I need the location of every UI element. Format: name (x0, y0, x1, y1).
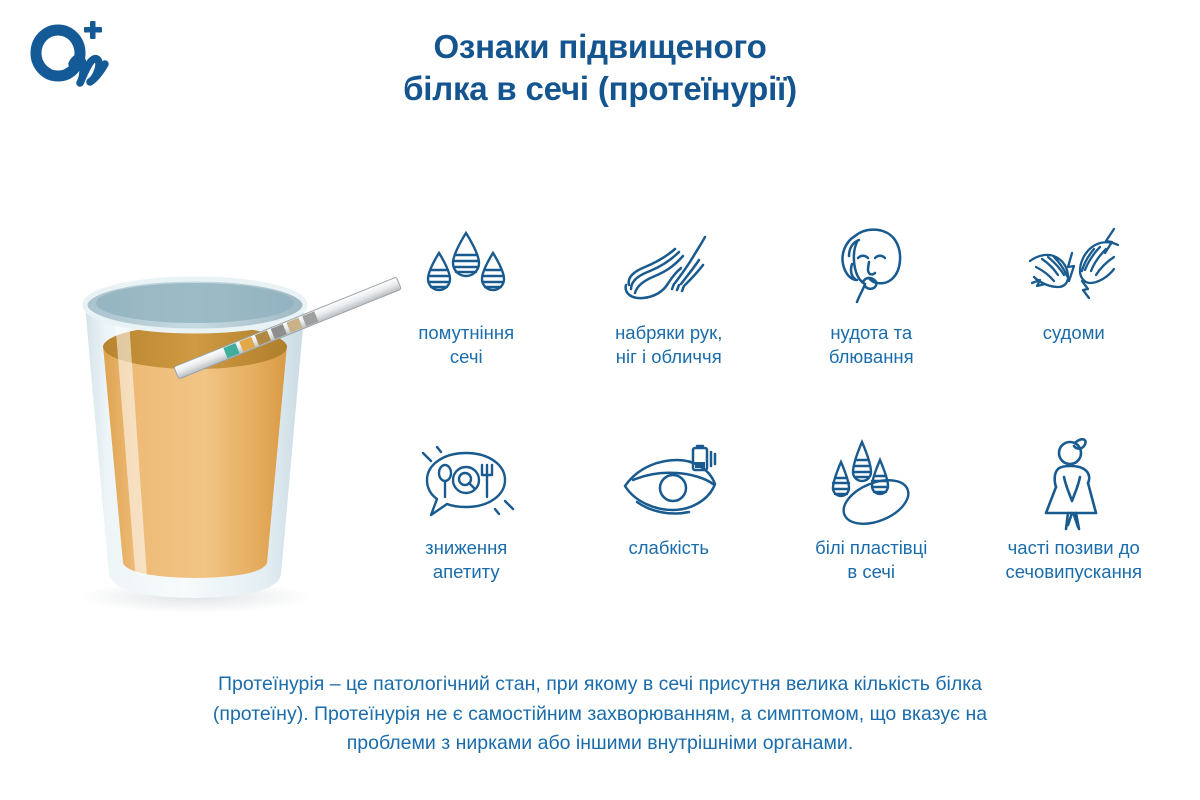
symptom-cell-nausea[interactable]: нудота та блювання (770, 215, 973, 430)
symptom-label-line-2: в сечі (815, 560, 927, 584)
urine-droplets-icon (420, 219, 512, 315)
woman-urgency-icon (1032, 434, 1116, 530)
symptom-caption: слабкість (629, 536, 710, 560)
swollen-foot-icon (617, 219, 721, 315)
symptom-label-line-2: блювання (829, 345, 914, 369)
symptom-label-line-2: апетиту (425, 560, 507, 584)
symptom-cell-cramps[interactable]: судоми (973, 215, 1176, 430)
symptom-label-line-2: ніг і обличчя (615, 345, 722, 369)
symptom-cell-appetite[interactable]: зниження апетиту (365, 430, 568, 645)
symptom-cell-cloudy-urine[interactable]: помутніння сечі (365, 215, 568, 430)
symptom-caption: нудота та блювання (829, 321, 914, 370)
symptom-cell-swelling[interactable]: набряки рук, ніг і обличчя (568, 215, 771, 430)
footer-description: Протеїнурія – це патологічний стан, при … (150, 670, 1050, 759)
symptom-caption: судоми (1043, 321, 1105, 345)
symptom-label-line-2: сечовипускання (1005, 560, 1142, 584)
footer-line-3: проблеми з нирками або іншими внутрішнім… (150, 729, 1050, 759)
symptom-caption: часті позиви до сечовипускання (1005, 536, 1142, 585)
symptom-caption: помутніння сечі (418, 321, 514, 370)
page-title-line-2: білка в сечі (протеїнурії) (300, 68, 900, 110)
symptom-label-line-1: нудота та (829, 321, 914, 345)
symptom-cell-frequent-urination[interactable]: часті позиви до сечовипускання (973, 430, 1176, 645)
page-title-line-1: Ознаки підвищеного (300, 26, 900, 68)
symptom-label-line-1: зниження (425, 536, 507, 560)
nausea-woman-head-icon (825, 219, 917, 315)
symptom-cell-white-flakes[interactable]: білі пластівці в сечі (770, 430, 973, 645)
symptom-label-line-1: набряки рук, (615, 321, 722, 345)
on-plus-logo[interactable] (28, 16, 128, 92)
symptom-cell-weakness[interactable]: слабкість (568, 430, 771, 645)
symptom-caption: набряки рук, ніг і обличчя (615, 321, 722, 370)
symptom-label-line-1: часті позиви до (1005, 536, 1142, 560)
footer-line-2: (протеїну). Протеїнурія не є самостійним… (150, 700, 1050, 730)
symptom-label-line-1: судоми (1043, 321, 1105, 345)
cup-rim-inner (96, 283, 294, 323)
page-title: Ознаки підвищеного білка в сечі (протеїн… (300, 26, 900, 110)
symptom-caption: білі пластівці в сечі (815, 536, 927, 585)
cramping-hands-icon (1022, 219, 1126, 315)
symptom-label-line-2: сечі (418, 345, 514, 369)
symptom-label-line-1: слабкість (629, 536, 710, 560)
white-flakes-droplets-icon (822, 434, 920, 530)
symptom-label-line-1: білі пластівці (815, 536, 927, 560)
tired-eye-battery-icon (617, 434, 721, 530)
logo-mark (28, 16, 128, 92)
symptom-caption: зниження апетиту (425, 536, 507, 585)
appetite-speech-bubble-icon (417, 434, 515, 530)
symptom-label-line-1: помутніння (418, 321, 514, 345)
symptoms-grid: помутніння сечі набряки рук (365, 215, 1175, 645)
footer-line-1: Протеїнурія – це патологічний стан, при … (150, 670, 1050, 700)
